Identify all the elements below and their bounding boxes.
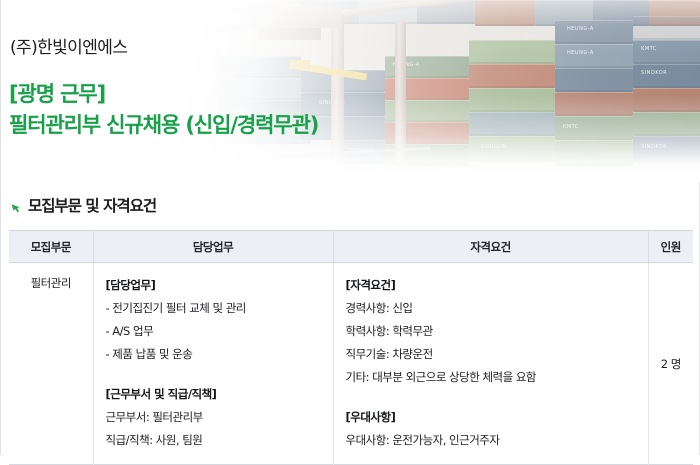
duties-line: - A/S 업무 [106,320,333,343]
page-title-line1: [광명 근무] [9,82,105,106]
recruitment-table: 모집부문 담당업무 자격요건 인원 필터관리 [담당업무] - 전기집진기 필터… [9,230,693,465]
cell-requirements: [자격요건] 경력사항: 신입 학력사항: 학력무관 직무기술: 차량운전 기타… [333,263,648,465]
table-header-row: 모집부문 담당업무 자격요건 인원 [9,231,693,263]
requirements-block-2: [우대사항] 우대사항: 운전가능자, 인근거주자 [346,406,648,452]
duties-line: - 제품 납품 및 운송 [106,343,333,366]
cell-duties: [담당업무] - 전기집진기 필터 교체 및 관리 - A/S 업무 - 제품 … [93,263,333,465]
column-header-duties: 담당업무 [93,231,333,263]
requirements-line: 경력사항: 신입 [346,297,648,320]
job-posting-page: SINOKOR CK LINE KMTC SINOKOR DONGJIN [0,0,700,455]
requirements-heading-2: [우대사항] [346,406,648,429]
requirements-line: 학력사항: 학력무관 [346,320,648,343]
requirements-block-1: [자격요건] 경력사항: 신입 학력사항: 학력무관 직무기술: 차량운전 기타… [346,274,648,389]
duties-line: 직급/직책: 사원, 팀원 [106,429,333,452]
page-title-line2: 필터관리부 신규채용 (신입/경력무관) [9,110,318,141]
requirements-heading-1: [자격요건] [346,274,648,297]
section-title: 모집부문 및 자격요건 [28,194,156,216]
section-heading: 모집부문 및 자격요건 [10,194,156,216]
duties-block-1: [담당업무] - 전기집진기 필터 교체 및 관리 - A/S 업무 - 제품 … [106,274,333,366]
column-header-count: 인원 [648,231,693,263]
recruitment-table-wrap: 모집부문 담당업무 자격요건 인원 필터관리 [담당업무] - 전기집진기 필터… [9,230,693,465]
column-header-part: 모집부문 [9,231,93,263]
hero-banner: SINOKOR CK LINE KMTC SINOKOR DONGJIN [1,0,700,182]
cell-part: 필터관리 [9,263,93,465]
duties-line: 근무부서: 필터관리부 [106,406,333,429]
green-arrow-icon [10,199,22,211]
table-row: 필터관리 [담당업무] - 전기집진기 필터 교체 및 관리 - A/S 업무 … [9,263,693,465]
requirements-line: 직무기술: 차량운전 [346,343,648,366]
duties-heading-2: [근무부서 및 직급/직책] [106,383,333,406]
page-title: [광명 근무] 필터관리부 신규채용 (신입/경력무관) [9,79,318,141]
duties-block-2: [근무부서 및 직급/직책] 근무부서: 필터관리부 직급/직책: 사원, 팀원 [106,383,333,452]
requirements-line: 기타: 대부분 외근으로 상당한 체력을 요함 [346,366,648,389]
duties-line: - 전기집진기 필터 교체 및 관리 [106,297,333,320]
cell-count: 2 명 [648,263,693,465]
company-name: (주)한빛이엔에스 [10,33,127,58]
duties-heading-1: [담당업무] [106,274,333,297]
column-header-requirements: 자격요건 [333,231,648,263]
requirements-line: 우대사항: 운전가능자, 인근거주자 [346,429,648,452]
